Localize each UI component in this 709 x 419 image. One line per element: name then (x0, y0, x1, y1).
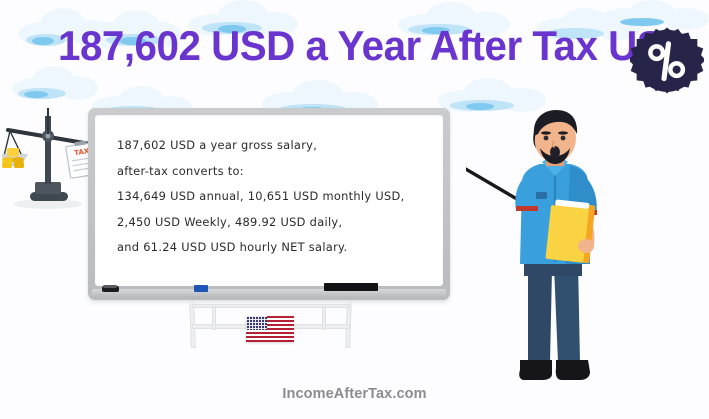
left-eyebrow (541, 131, 551, 134)
right-eyebrow (558, 131, 568, 134)
right-eye (561, 136, 566, 141)
teacher-illustration (466, 110, 646, 390)
site-footer: IncomeAfterTax.com (0, 386, 709, 402)
whiteboard-line: 187,602 USD a year gross salary, (117, 133, 433, 159)
title-area: 187,602 USD a Year After Tax US (0, 18, 709, 80)
whiteboard-text: 187,602 USD a year gross salary, after-t… (117, 133, 433, 261)
left-shoe (519, 360, 552, 380)
whiteboard-line: after-tax converts to: (117, 159, 433, 185)
whiteboard-line: 134,649 USD annual, 10,651 USD monthly U… (117, 184, 433, 210)
stand-brace-right (322, 306, 326, 330)
pointer-stick (466, 168, 522, 202)
left-eye (544, 136, 549, 141)
black-marker-icon (324, 283, 378, 291)
yellow-folder (545, 199, 595, 263)
folder-hand (578, 239, 594, 253)
poster-canvas: 187,602 USD a Year After Tax US (0, 0, 709, 419)
us-flag-icon (246, 316, 294, 342)
whiteboard-tray (92, 289, 446, 298)
whiteboard-stand (186, 300, 356, 350)
blue-marker-icon (194, 285, 208, 292)
left-sleeve (515, 178, 536, 210)
percent-badge (630, 26, 704, 100)
mouth (550, 146, 560, 158)
left-leg (528, 262, 552, 362)
whiteboard-line: 2,450 USD Weekly, 489.92 USD daily, (117, 210, 433, 236)
cloud-decoration (438, 78, 546, 112)
right-leg (554, 262, 580, 362)
right-shoe (556, 360, 590, 380)
whiteboard-line: and 61.24 USD USD hourly NET salary. (117, 235, 433, 261)
flag-canton (246, 316, 267, 330)
whiteboard-surface: 187,602 USD a year gross salary, after-t… (95, 115, 443, 286)
whiteboard: 187,602 USD a year gross salary, after-t… (88, 108, 450, 300)
page-title: 187,602 USD a Year After Tax US (58, 18, 663, 74)
stand-brace-left (212, 306, 216, 330)
eraser-top-icon (103, 285, 117, 288)
